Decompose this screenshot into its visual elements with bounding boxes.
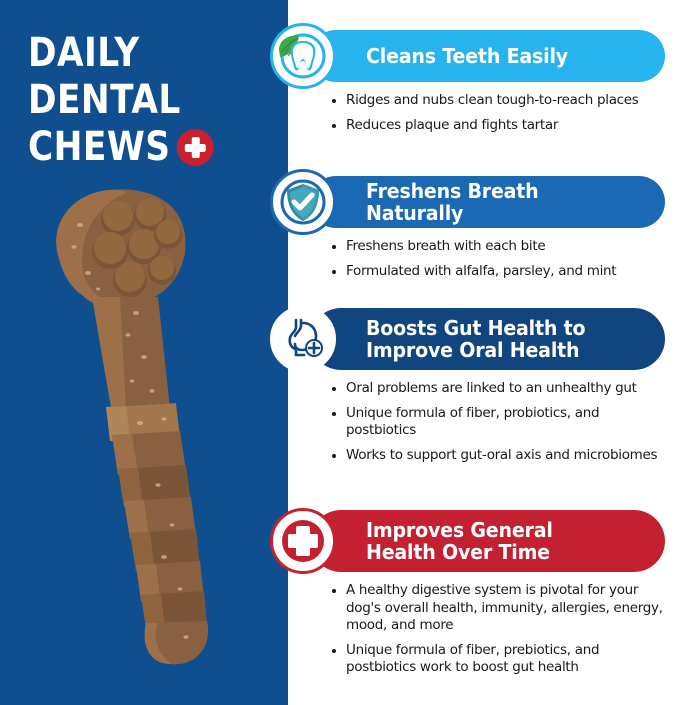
- page-title: DAILY DENTAL CHEWS: [28, 30, 268, 171]
- feature-bullets-freshens-breath: Freshens breath with each bite Formulate…: [332, 238, 672, 287]
- medical-cross-icon: [176, 129, 213, 166]
- list-item: Unique formula of fiber, probiotics, and…: [332, 405, 672, 440]
- list-item: Works to support gut-oral axis and micro…: [332, 447, 672, 465]
- feature-title-line-2: Improve Oral Health: [366, 339, 585, 361]
- feature-banner-boosts-gut-health[interactable]: Boosts Gut Health to Improve Oral Health: [310, 308, 665, 370]
- infographic-page: DAILY DENTAL CHEWS: [0, 0, 679, 705]
- list-item: Oral problems are linked to an unhealthy…: [332, 380, 672, 398]
- feature-banner-cleans-teeth[interactable]: Cleans Teeth Easily: [310, 30, 665, 82]
- title-line-3: CHEWS: [28, 124, 170, 171]
- title-line-2: DENTAL: [28, 77, 234, 124]
- shield-check-icon: [270, 169, 336, 235]
- feature-title-line-1: Boosts Gut Health to: [366, 316, 585, 340]
- chew-ridges: [112, 431, 207, 629]
- feature-bullets-improves-general-health: A healthy digestive system is pivotal fo…: [332, 582, 672, 684]
- feature-title-cleans-teeth: Cleans Teeth Easily: [366, 45, 568, 67]
- feature-bullets-boosts-gut-health: Oral problems are linked to an unhealthy…: [332, 380, 672, 471]
- feature-banner-improves-general-health[interactable]: Improves General Health Over Time: [310, 510, 665, 572]
- list-item: Unique formula of fiber, prebiotics, and…: [332, 642, 672, 677]
- feature-banner-freshens-breath[interactable]: Freshens Breath Naturally: [310, 176, 665, 228]
- plus-badge-small: [306, 340, 322, 356]
- list-item: Ridges and nubs clean tough-to-reach pla…: [332, 92, 672, 110]
- dog-dental-chew-illustration: [40, 185, 270, 685]
- title-line-3-row: CHEWS: [28, 124, 234, 171]
- tooth-mint-leaf-icon: [270, 23, 336, 89]
- stomach-plus-icon: [270, 306, 336, 372]
- left-brand-panel: DAILY DENTAL CHEWS: [0, 0, 288, 705]
- list-item: Formulated with alfalfa, parsley, and mi…: [332, 263, 672, 281]
- medical-cross-icon: [270, 508, 336, 574]
- features-column: Cleans Teeth Easily Ridges and nubs clea…: [288, 0, 679, 705]
- feature-title-improves-general-health: Improves General Health Over Time: [366, 519, 553, 563]
- feature-title-line-2: Health Over Time: [366, 541, 553, 563]
- title-line-1: DAILY: [28, 30, 234, 77]
- feature-title-boosts-gut-health: Boosts Gut Health to Improve Oral Health: [366, 317, 585, 361]
- feature-title-freshens-breath: Freshens Breath Naturally: [366, 180, 637, 224]
- list-item: Reduces plaque and fights tartar: [332, 117, 672, 135]
- feature-bullets-cleans-teeth: Ridges and nubs clean tough-to-reach pla…: [332, 92, 672, 141]
- feature-title-line-1: Improves General: [366, 518, 553, 542]
- list-item: A healthy digestive system is pivotal fo…: [332, 582, 672, 635]
- list-item: Freshens breath with each bite: [332, 238, 672, 256]
